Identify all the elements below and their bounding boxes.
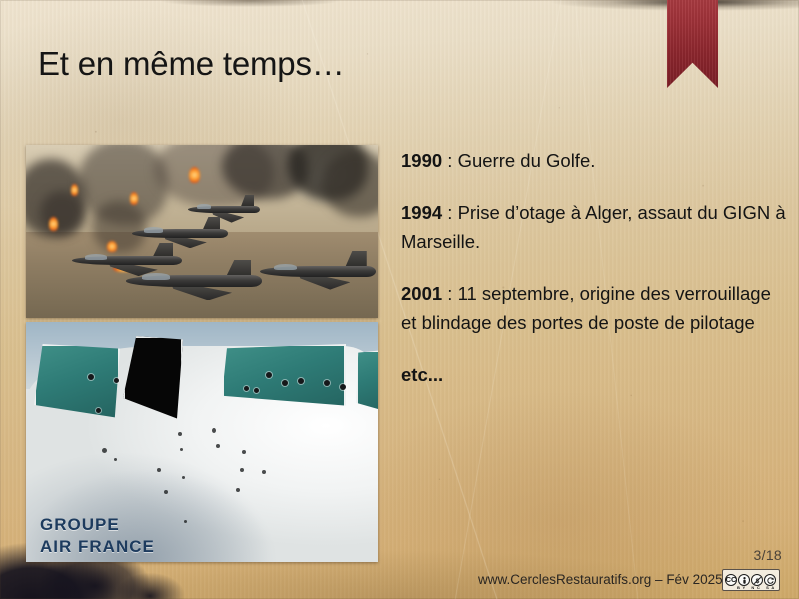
timeline-entry-1990: 1990 : Guerre du Golfe. <box>401 146 786 175</box>
smoke-plume <box>40 191 84 235</box>
fuselage-bullet-mark <box>114 458 117 461</box>
entry-year: 1990 <box>401 150 442 171</box>
bullet-hole <box>298 378 304 384</box>
fighter-jet <box>260 251 376 293</box>
presentation-slide: Et en même temps… <box>0 0 799 599</box>
page-number: 3/18 <box>754 547 782 563</box>
fuselage-bullet-mark <box>262 470 266 474</box>
air-france-cockpit-photo: GROUPE AIR FRANCE <box>26 322 378 562</box>
fighter-jet <box>126 260 262 304</box>
entry-year: 1994 <box>401 202 442 223</box>
bullet-hole <box>96 408 101 413</box>
bullet-hole <box>114 378 119 383</box>
slide-title: Et en même temps… <box>38 45 638 83</box>
entry-text: Prise d’otage à Alger, assaut du GIGN à … <box>401 202 786 252</box>
fuselage-bullet-mark <box>157 468 161 472</box>
cc-icon: CC <box>725 574 737 586</box>
oil-fire-flame <box>189 167 200 183</box>
footer-url: www.CerclesRestauratifs.org – Fév 2025 <box>478 572 723 587</box>
timeline-entry-etc: etc... <box>401 360 786 389</box>
fuselage-bullet-mark <box>102 448 107 453</box>
fuselage-bullet-mark <box>242 450 246 454</box>
fuselage-bullet-mark <box>216 444 220 448</box>
fuselage-bullet-mark <box>178 432 182 436</box>
entry-year: 2001 <box>401 283 442 304</box>
entry-separator: : <box>442 150 457 171</box>
entry-separator: : <box>442 202 457 223</box>
oil-fire-flame <box>130 192 138 205</box>
fuselage-bullet-mark <box>240 468 244 472</box>
bullet-hole <box>340 384 346 390</box>
oil-fire-flame <box>71 184 78 196</box>
fuselage-bullet-mark <box>164 490 168 494</box>
bullet-hole <box>254 388 259 393</box>
slide-body-text: 1990 : Guerre du Golfe. 1994 : Prise d’o… <box>401 146 786 389</box>
timeline-entry-2001: 2001 : 11 septembre, origine des verroui… <box>401 279 786 337</box>
bullet-hole <box>88 374 94 380</box>
fuselage-bullet-mark <box>180 448 183 451</box>
fuselage-bullet-mark <box>184 520 187 523</box>
fuselage-bullet-mark <box>236 488 240 492</box>
timeline-entry-1994: 1994 : Prise d’otage à Alger, assaut du … <box>401 198 786 256</box>
bullet-hole <box>244 386 249 391</box>
gulf-war-jets-photo <box>26 145 378 318</box>
fuselage-logo-line2: AIR FRANCE <box>40 537 155 557</box>
fuselage-bullet-mark <box>182 476 185 479</box>
red-ribbon-decoration <box>667 0 718 88</box>
cc-license-labels: BY NC SA <box>737 585 777 590</box>
fuselage-bullet-mark <box>212 428 216 433</box>
entry-text: Guerre du Golfe. <box>458 150 596 171</box>
bullet-hole <box>282 380 288 386</box>
oil-fire-flame <box>49 217 58 231</box>
fuselage-logo-line1: GROUPE <box>40 515 120 535</box>
bullet-hole <box>324 380 330 386</box>
bullet-hole <box>266 372 272 378</box>
entry-separator: : <box>442 283 457 304</box>
creative-commons-badge[interactable]: CC $ BY NC SA <box>722 569 780 591</box>
